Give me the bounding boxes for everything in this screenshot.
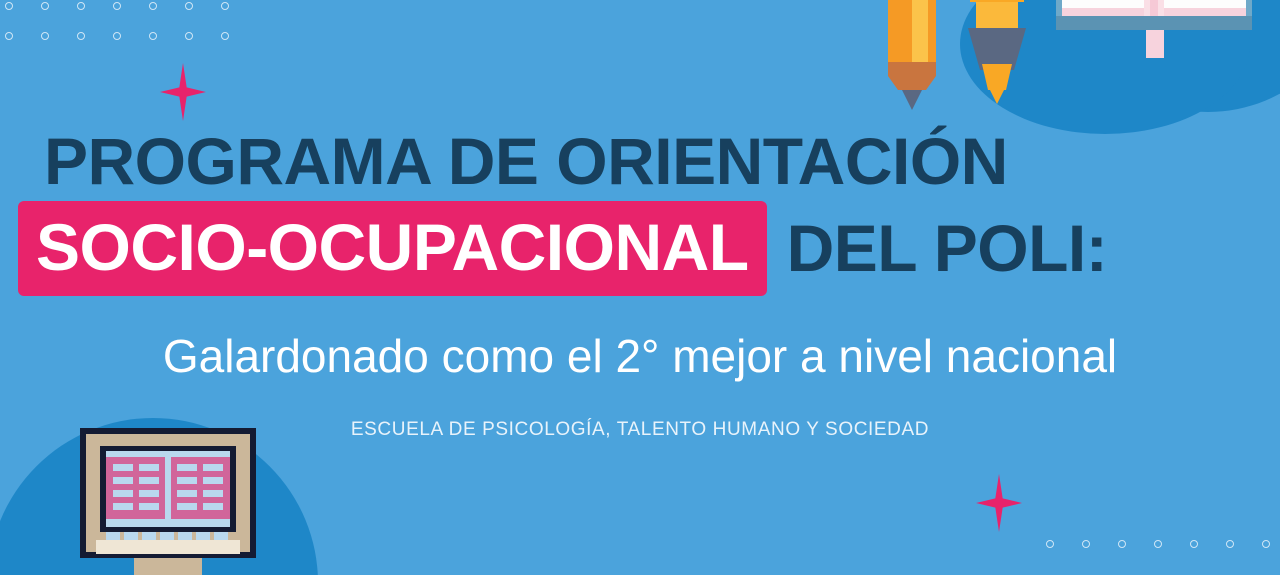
dot — [1226, 540, 1234, 548]
headline-line-one: PROGRAMA DE ORIENTACIÓN — [0, 126, 1280, 197]
dot-grid-top-left — [5, 2, 229, 40]
sparkle-icon — [976, 474, 1022, 532]
headline-block: PROGRAMA DE ORIENTACIÓN SOCIO-OCUPACIONA… — [0, 126, 1280, 296]
headline-tail: DEL POLI: — [787, 213, 1108, 284]
dot — [5, 32, 13, 40]
promotional-banner: PROGRAMA DE ORIENTACIÓN SOCIO-OCUPACIONA… — [0, 0, 1280, 575]
dot — [77, 32, 85, 40]
dot — [41, 32, 49, 40]
dot — [1190, 540, 1198, 548]
dot — [1262, 540, 1270, 548]
dot — [185, 2, 193, 10]
dot — [149, 2, 157, 10]
dot — [5, 2, 13, 10]
dot — [1154, 540, 1162, 548]
dot — [149, 32, 157, 40]
dot — [41, 2, 49, 10]
headline-highlight: SOCIO-OCUPACIONAL — [18, 201, 767, 296]
dot — [1046, 540, 1054, 548]
dot — [221, 2, 229, 10]
dot — [185, 32, 193, 40]
caption: ESCUELA DE PSICOLOGÍA, TALENTO HUMANO Y … — [0, 419, 1280, 441]
dot — [1118, 540, 1126, 548]
dot — [221, 32, 229, 40]
dot-grid-bottom-right — [1046, 540, 1270, 548]
computer-illustration — [72, 424, 282, 575]
dot — [113, 32, 121, 40]
dot — [1082, 540, 1090, 548]
headline-line-two: SOCIO-OCUPACIONAL DEL POLI: — [0, 201, 1280, 296]
pencil-icon — [888, 0, 936, 110]
sparkle-icon — [160, 63, 206, 121]
subtitle: Galardonado como el 2° mejor a nivel nac… — [0, 329, 1280, 383]
dot — [77, 2, 85, 10]
stationery-illustration — [860, 0, 1280, 134]
dot — [113, 2, 121, 10]
